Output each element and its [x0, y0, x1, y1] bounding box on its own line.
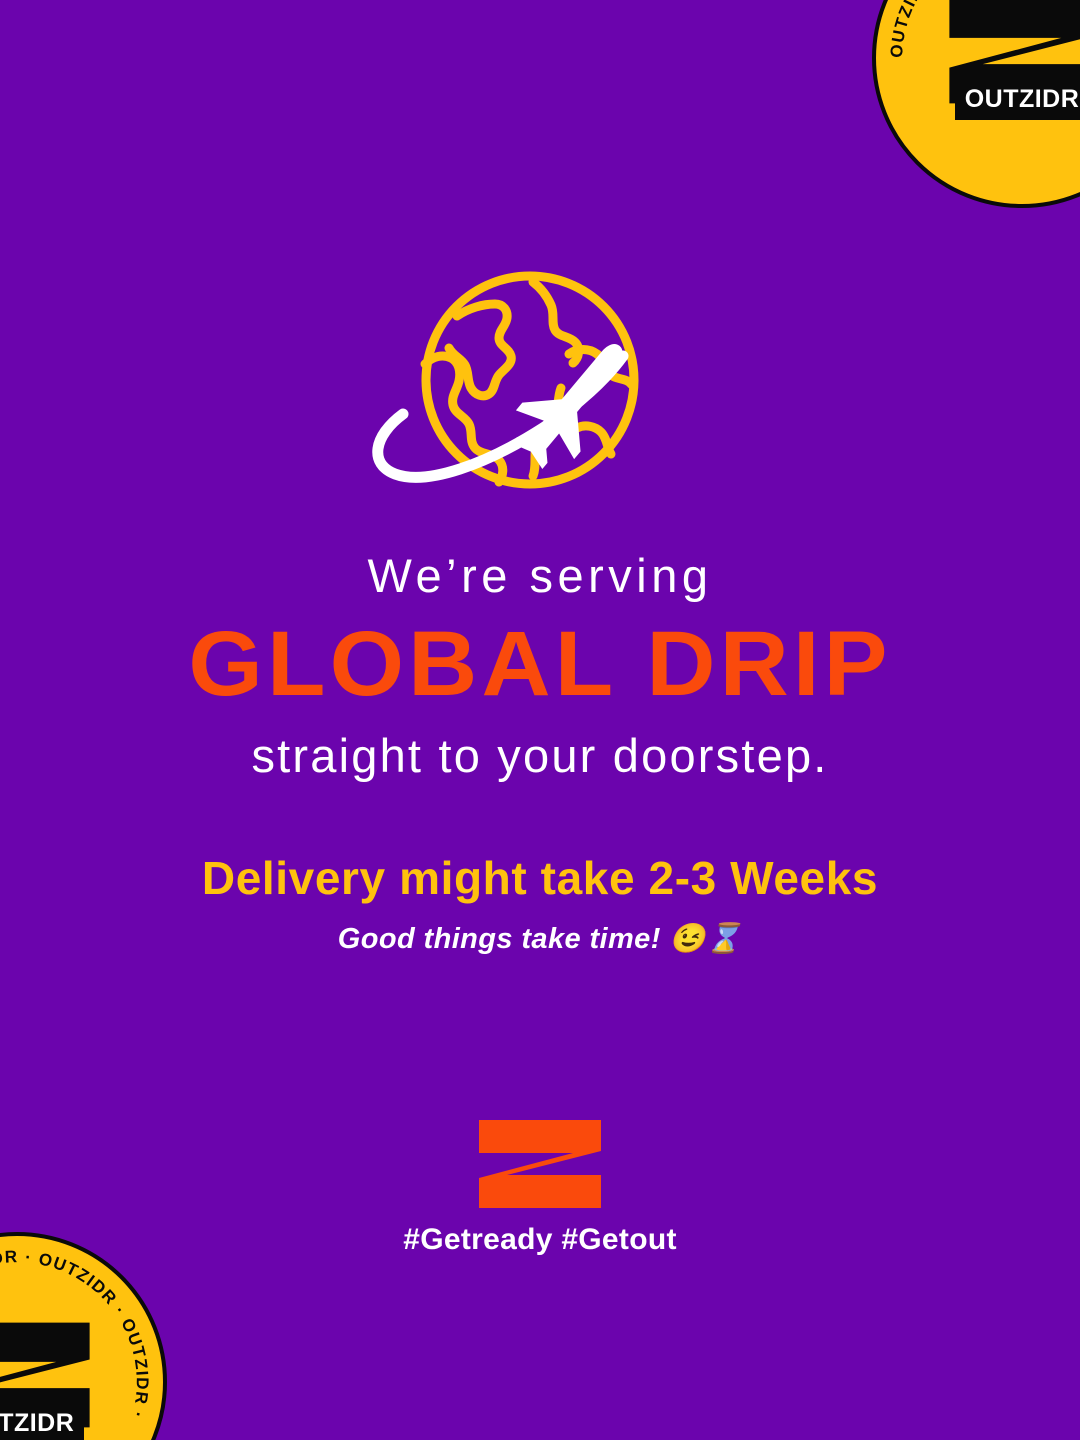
outzidr-z-logo-icon [477, 1118, 603, 1210]
poster-canvas: We’re serving GLOBAL DRIP straight to yo… [0, 0, 1080, 1440]
headline-main: GLOBAL DRIP [0, 612, 1080, 718]
badge-core: OUTZIDR [0, 1320, 101, 1440]
badge-bottom-left: OUTZIDR · OUTZIDR · OUTZIDR · OUTZIDR · … [0, 1232, 167, 1440]
badge-core: OUTZIDR [938, 0, 1080, 120]
delivery-notice: Delivery might take 2-3 Weeks [0, 851, 1080, 906]
delivery-subnote: Good things take time! 😉⌛ [0, 922, 1080, 957]
headline-pretext: We’re serving [0, 548, 1080, 604]
badge-top-right: OUTZIDR · OUTZIDR · OUTZIDR · OUTZIDR · … [872, 0, 1080, 208]
hero-illustration [0, 268, 1080, 500]
hashtags-text: #Getready #Getout [403, 1222, 677, 1258]
headline-posttext: straight to your doorstep. [0, 728, 1080, 784]
badge-wordmark: OUTZIDR [955, 80, 1080, 120]
message-block: We’re serving GLOBAL DRIP straight to yo… [0, 548, 1080, 957]
globe-airplane-graphic [365, 268, 715, 500]
badge-wordmark: OUTZIDR [0, 1404, 84, 1440]
